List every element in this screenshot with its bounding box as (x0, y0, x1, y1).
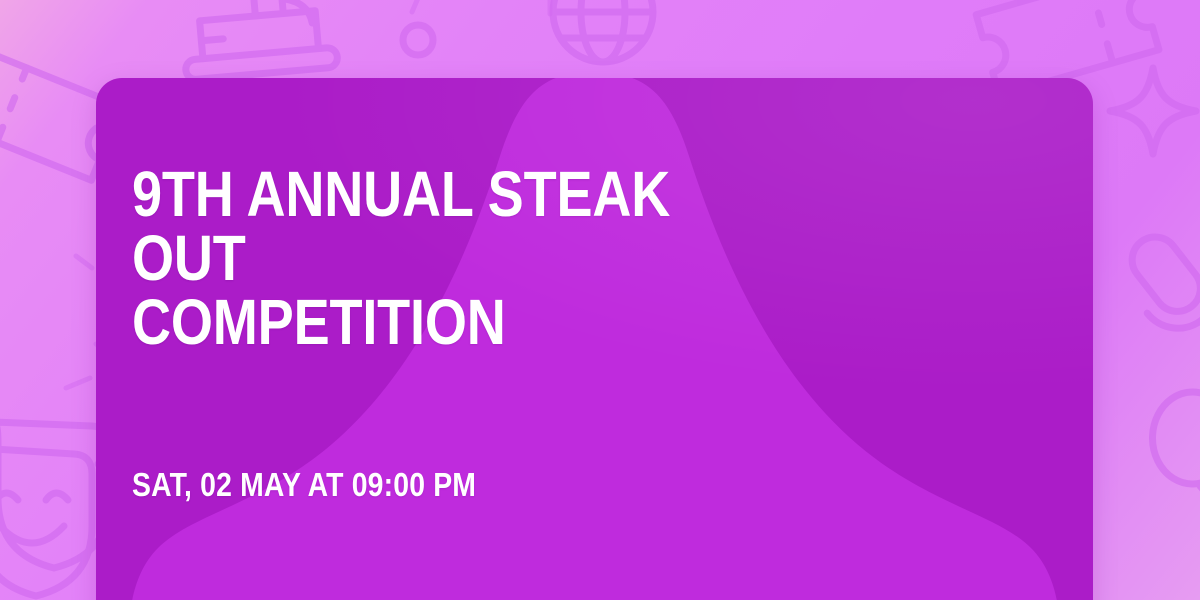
event-card[interactable]: 9th Annual Steak Out Competition Sat, 02… (96, 78, 1093, 600)
event-banner: 9th Annual Steak Out Competition Sat, 02… (0, 0, 1200, 600)
podium-icon (160, 0, 350, 88)
confetti-icon (536, 0, 566, 30)
event-title: 9th Annual Steak Out Competition (132, 162, 774, 354)
microphone-icon (1112, 216, 1200, 366)
globe-icon (533, 0, 673, 82)
card-content: 9th Annual Steak Out Competition Sat, 02… (132, 78, 1057, 600)
balloon-icon (1140, 386, 1200, 546)
event-datetime: Sat, 02 May at 09:00 PM (132, 468, 476, 501)
sparkle-icon (1098, 56, 1200, 166)
confetti-icon (14, 246, 104, 316)
ring-icon (392, 14, 444, 66)
confetti-icon (402, 0, 442, 28)
